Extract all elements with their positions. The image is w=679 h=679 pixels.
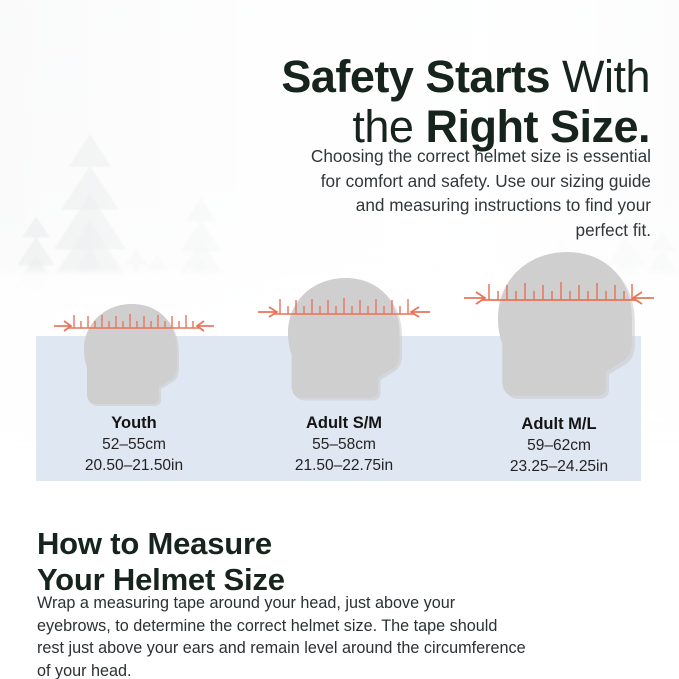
helmet-sizing-infographic: Safety Starts With the Right Size. Choos… [0,0,679,679]
size-card-adult-ml: Adult M/L 59–62cm 23.25–24.25in [460,248,658,477]
size-label-inches: 21.50–22.75in [252,455,436,476]
size-label-cm: 55–58cm [252,434,436,455]
size-card-adult-sm: Adult S/M 55–58cm 21.50–22.75in [252,274,436,476]
size-label-inches: 20.50–21.50in [48,455,220,476]
head-diagram-adult-ml [460,248,658,411]
measuring-tape-icon [460,248,658,411]
size-label-cm: 52–55cm [48,434,220,455]
measuring-tape-icon [48,300,220,410]
howto-section-title: How to Measure Your Helmet Size [37,526,457,598]
tape-arrow-right [197,321,214,331]
headline-part-1: Safety Starts [281,51,550,102]
howto-title-line-1: How to Measure [37,526,272,561]
size-label-name: Adult S/M [252,413,436,434]
measuring-tape-icon [252,274,436,410]
tape-arrow-left [54,321,71,331]
page-title: Safety Starts With the Right Size. [210,52,650,152]
head-diagram-youth [48,300,220,410]
size-label-name: Adult M/L [460,414,658,435]
size-label-name: Youth [48,413,220,434]
size-chart: Youth 52–55cm 20.50–21.50in [0,230,679,480]
size-label-inches: 23.25–24.25in [460,456,658,477]
tape-arrow-right [633,292,654,304]
howto-section-body: Wrap a measuring tape around your head, … [37,592,527,679]
headline-part-2: With [562,51,650,102]
tape-arrow-left [464,292,485,304]
head-diagram-adult-sm [252,274,436,410]
tape-arrow-left [258,307,277,317]
size-card-youth: Youth 52–55cm 20.50–21.50in [48,300,220,476]
tape-arrow-right [411,307,430,317]
size-label-cm: 59–62cm [460,435,658,456]
hero-subtitle: Choosing the correct helmet size is esse… [306,144,651,242]
